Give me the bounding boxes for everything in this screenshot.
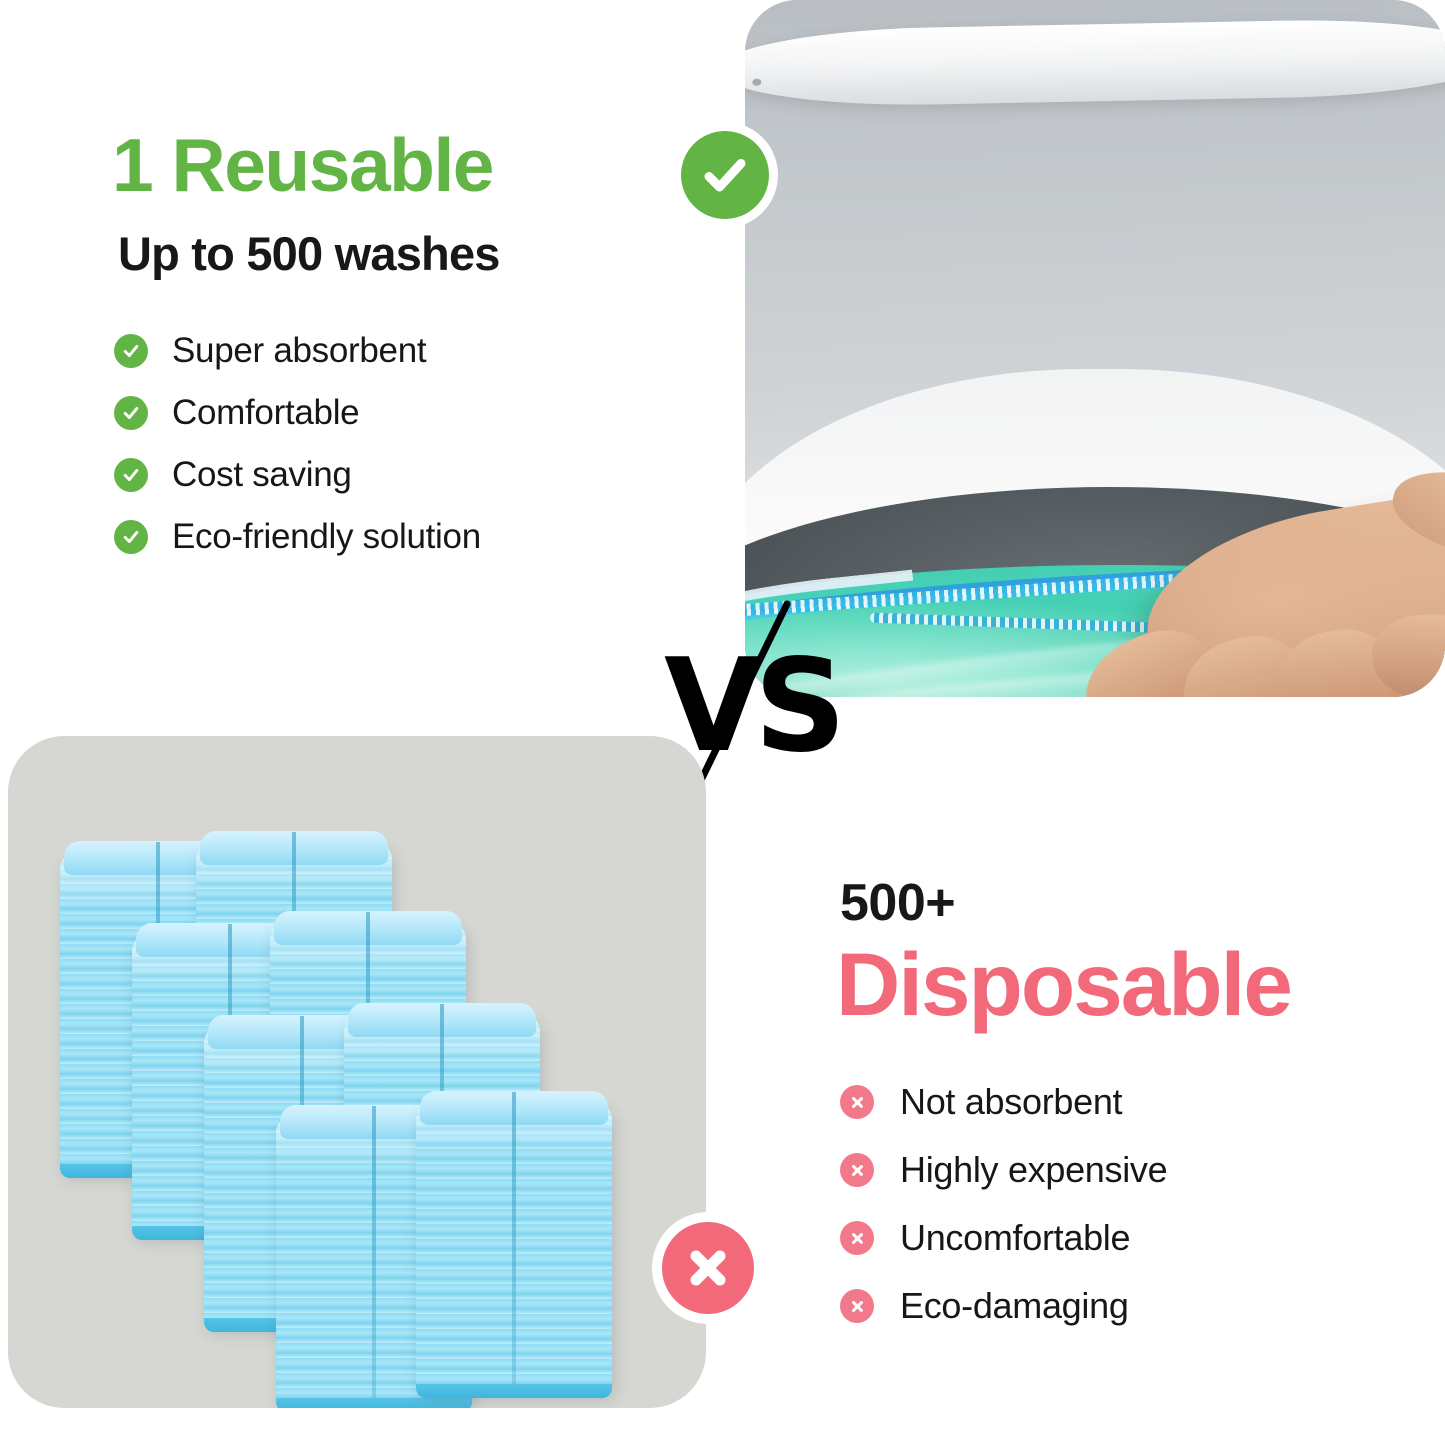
list-item: Super absorbent bbox=[114, 320, 654, 382]
thumb bbox=[1384, 456, 1445, 578]
check-circle-icon bbox=[114, 520, 148, 554]
infographic-canvas: 1 Reusable Up to 500 washes Super absorb… bbox=[0, 0, 1445, 1433]
list-item: Comfortable bbox=[114, 382, 654, 444]
disposable-count: 500+ bbox=[840, 877, 955, 929]
list-item: Uncomfortable bbox=[840, 1204, 1360, 1272]
washing-machine-drum bbox=[745, 369, 1445, 697]
reusable-heading: 1 Reusable bbox=[112, 128, 493, 203]
disposable-rejected-badge bbox=[652, 1212, 764, 1324]
check-circle-icon bbox=[681, 131, 769, 219]
pad-stack bbox=[416, 1104, 612, 1394]
list-item: Not absorbent bbox=[840, 1068, 1360, 1136]
disposable-photo bbox=[8, 736, 706, 1408]
cross-circle-icon bbox=[840, 1085, 874, 1119]
cross-circle-icon bbox=[840, 1289, 874, 1323]
list-item: Eco-friendly solution bbox=[114, 506, 654, 568]
list-item: Cost saving bbox=[114, 444, 654, 506]
benefit-label: Eco-friendly solution bbox=[172, 517, 481, 557]
reusable-benefits-list: Super absorbent Comfortable Cost saving bbox=[114, 320, 654, 568]
lid-hinge-dot bbox=[753, 79, 762, 86]
benefit-label: Cost saving bbox=[172, 455, 352, 495]
check-circle-icon bbox=[114, 334, 148, 368]
cross-circle-icon bbox=[840, 1221, 874, 1255]
cross-circle-icon bbox=[840, 1153, 874, 1187]
drawback-label: Not absorbent bbox=[900, 1081, 1122, 1123]
disposable-heading: Disposable bbox=[836, 940, 1291, 1029]
check-circle-icon bbox=[114, 396, 148, 430]
drawback-label: Highly expensive bbox=[900, 1149, 1167, 1191]
reusable-subheading: Up to 500 washes bbox=[118, 230, 500, 277]
hand bbox=[1133, 471, 1445, 697]
disposable-drawbacks-list: Not absorbent Highly expensive Uncomfort… bbox=[840, 1068, 1360, 1340]
reusable-approved-badge bbox=[672, 122, 778, 228]
disposable-pad-stacks bbox=[8, 736, 706, 1408]
check-circle-icon bbox=[114, 458, 148, 492]
cross-circle-icon bbox=[662, 1222, 754, 1314]
list-item: Eco-damaging bbox=[840, 1272, 1360, 1340]
benefit-label: Super absorbent bbox=[172, 331, 426, 371]
drum-opening bbox=[745, 487, 1445, 698]
list-item: Highly expensive bbox=[840, 1136, 1360, 1204]
reusable-photo bbox=[745, 0, 1445, 697]
drawback-label: Uncomfortable bbox=[900, 1217, 1130, 1259]
drawback-label: Eco-damaging bbox=[900, 1285, 1129, 1327]
benefit-label: Comfortable bbox=[172, 393, 359, 433]
